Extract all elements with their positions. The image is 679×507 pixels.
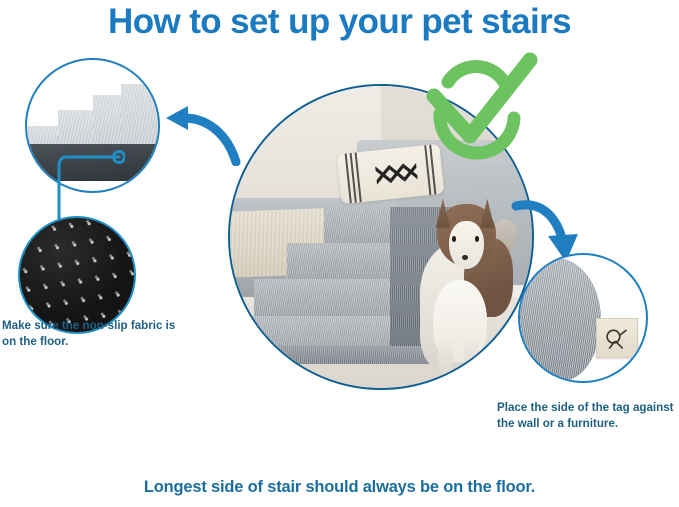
dog-paw-right <box>464 338 478 376</box>
page-title: How to set up your pet stairs <box>0 2 679 42</box>
footer-note: Longest side of stair should always be o… <box>0 478 679 497</box>
pillow-zigzag-pattern <box>374 152 419 196</box>
callout-circle-stairs-side-tag <box>518 253 648 383</box>
callout-circle-non-slip-fabric <box>18 216 136 334</box>
husky-dog <box>420 204 511 376</box>
brand-tag <box>596 318 638 358</box>
caption-tag-side: Place the side of the tag against the wa… <box>497 400 679 431</box>
infographic-canvas: How to set up your pet stairs Make sure … <box>0 0 679 507</box>
dog-face-mask <box>449 221 483 269</box>
fabric-sheen <box>20 218 134 332</box>
tag-logo-icon <box>597 319 637 357</box>
dog-eye-right <box>475 236 480 242</box>
stair-tread-4 <box>121 84 160 152</box>
check-circle-icon <box>418 52 540 164</box>
stairs-side-fabric <box>518 258 601 381</box>
dog-paw-left <box>438 338 452 376</box>
caption-non-slip-fabric: Make sure the non-slip fabric is on the … <box>2 318 192 349</box>
